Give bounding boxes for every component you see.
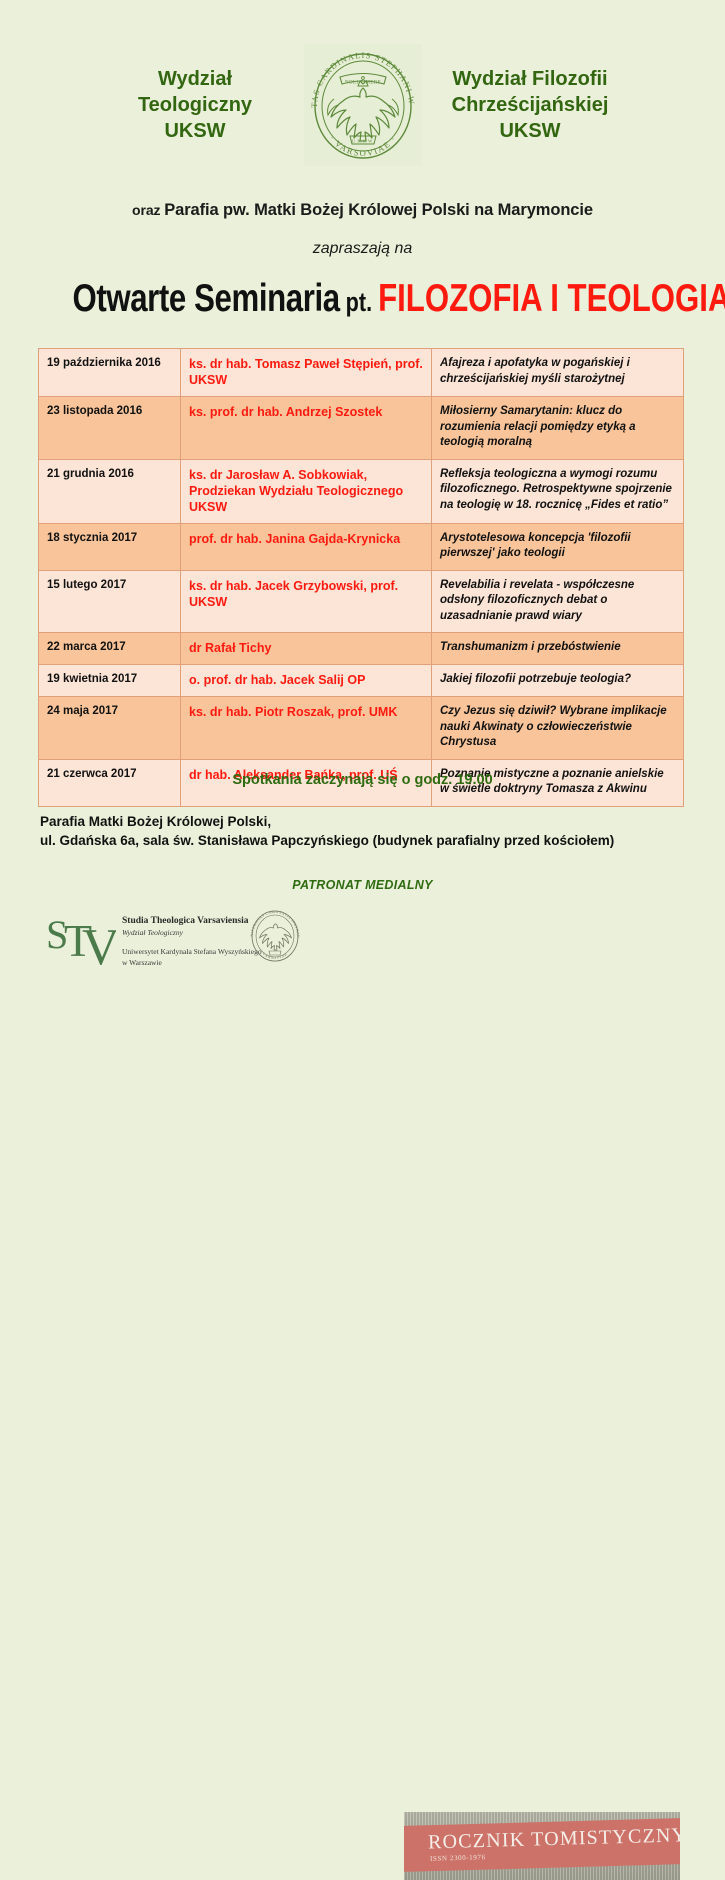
title-part-pt: pt. — [340, 287, 378, 317]
stv-logo-text: Studia Theologica Varsaviensia Wydział T… — [122, 915, 262, 968]
row-speaker: dr Rafał Tichy — [181, 633, 432, 665]
uksw-seal-icon: UNIVERSITAS CARDINALIS STEPHANI WYSZYŃSK… — [304, 44, 422, 166]
row-date: 24 maja 2017 — [39, 697, 181, 760]
row-date: 19 października 2016 — [39, 349, 181, 397]
stv-university-line-2: w Warszawie — [122, 958, 262, 969]
table-row: 24 maja 2017 ks. dr hab. Piotr Roszak, p… — [39, 697, 684, 760]
schedule-table-body: 19 października 2016 ks. dr hab. Tomasz … — [39, 349, 684, 807]
table-row: 15 lutego 2017 ks. dr hab. Jacek Grzybow… — [39, 570, 684, 633]
row-date: 23 listopada 2016 — [39, 397, 181, 460]
row-topic: Transhumanizm i przebóstwienie — [432, 633, 684, 665]
table-row: 19 kwietnia 2017 o. prof. dr hab. Jacek … — [39, 665, 684, 697]
row-speaker: ks. dr Jarosław A. Sobkowiak, Prodziekan… — [181, 459, 432, 523]
rocznik-tomistyczny-logo: ROCZNIK TOMISTYCZNY ISSN 2300-1976 — [404, 1812, 680, 1880]
title-part-black: Otwarte Seminaria — [73, 277, 340, 320]
stv-logo: S T V Studia Theologica Varsaviensia Wyd… — [44, 908, 262, 970]
row-speaker: ks. dr hab. Piotr Roszak, prof. UMK — [181, 697, 432, 760]
row-date: 19 kwietnia 2017 — [39, 665, 181, 697]
address-line-1: Parafia Matki Bożej Królowej Polski, — [40, 812, 700, 831]
row-topic: Afajreza i apofatyka w pogańskiej i chrz… — [432, 349, 684, 397]
table-row: 23 listopada 2016 ks. prof. dr hab. Andr… — [39, 397, 684, 460]
venue-address: Parafia Matki Bożej Królowej Polski, ul.… — [40, 812, 700, 850]
row-topic: Revelabilia i revelata - współczesne ods… — [432, 570, 684, 633]
start-time-note: Spotkania zaczynają się o godz. 19.00 — [0, 772, 725, 788]
sponsor-logos: S T V Studia Theologica Varsaviensia Wyd… — [0, 900, 725, 992]
page-title: Otwarte Seminaria pt. FILOZOFIA I TEOLOG… — [73, 277, 653, 324]
row-topic: Arystotelesowa koncepcja 'filozofii pier… — [432, 523, 684, 570]
row-topic: Czy Jezus się dziwił? Wybrane implikacje… — [432, 697, 684, 760]
faculty-right-line-2: Chrześcijańskiej — [423, 92, 638, 118]
faculty-left-line-1: Wydział — [88, 66, 303, 92]
faculty-left-line-3: UKSW — [88, 118, 303, 144]
svg-text:NOLI TIMERE: NOLI TIMERE — [344, 80, 380, 85]
organizer-parish: Parafia pw. Matki Bożej Królowej Polski … — [164, 201, 593, 219]
row-speaker: prof. dr hab. Janina Gajda-Krynicka — [181, 523, 432, 570]
title-part-red: FILOZOFIA I TEOLOGIA — [378, 277, 725, 320]
uksw-small-seal-icon: UNIVERSITAS CARDINALIS STEPHANI VARSOVIA… — [247, 906, 303, 966]
organizer-line: oraz Parafia pw. Matki Bożej Królowej Po… — [0, 201, 725, 220]
svg-text:U.K.S.W.: U.K.S.W. — [351, 138, 374, 143]
rocznik-issn: ISSN 2300-1976 — [430, 1853, 486, 1863]
stv-monogram-icon: S T V — [44, 908, 116, 970]
table-row: 18 stycznia 2017 prof. dr hab. Janina Ga… — [39, 523, 684, 570]
faculty-left: Wydział Teologiczny UKSW — [88, 66, 303, 144]
uksw-seal-wrap: UNIVERSITAS CARDINALIS STEPHANI WYSZYŃSK… — [303, 42, 423, 167]
svg-text:V: V — [82, 919, 116, 970]
stv-title: Studia Theologica Varsaviensia — [122, 915, 262, 927]
schedule-table: 19 października 2016 ks. dr hab. Tomasz … — [38, 348, 684, 807]
row-topic: Miłosierny Samarytanin: klucz do rozumie… — [432, 397, 684, 460]
row-topic: Refleksja teologiczna a wymogi rozumu fi… — [432, 459, 684, 523]
poster-header: Wydział Teologiczny UKSW UNIVERSITAS CAR… — [0, 0, 725, 167]
media-patronage-heading: PATRONAT MEDIALNY — [0, 878, 725, 892]
address-line-2: ul. Gdańska 6a, sala św. Stanisława Papc… — [40, 831, 700, 850]
table-row: 22 marca 2017 dr Rafał Tichy Transhumani… — [39, 633, 684, 665]
faculty-right-line-1: Wydział Filozofii — [423, 66, 638, 92]
schedule-table-wrap: 19 października 2016 ks. dr hab. Tomasz … — [38, 348, 684, 807]
organizer-prefix: oraz — [132, 202, 164, 218]
faculty-right: Wydział Filozofii Chrześcijańskiej UKSW — [423, 66, 638, 144]
row-topic: Jakiej filozofii potrzebuje teologia? — [432, 665, 684, 697]
table-row: 19 października 2016 ks. dr hab. Tomasz … — [39, 349, 684, 397]
row-date: 22 marca 2017 — [39, 633, 181, 665]
table-row: 21 grudnia 2016 ks. dr Jarosław A. Sobko… — [39, 459, 684, 523]
row-speaker: o. prof. dr hab. Jacek Salij OP — [181, 665, 432, 697]
row-speaker: ks. prof. dr hab. Andrzej Szostek — [181, 397, 432, 460]
row-date: 21 grudnia 2016 — [39, 459, 181, 523]
row-speaker: ks. dr hab. Tomasz Paweł Stępień, prof. … — [181, 349, 432, 397]
svg-text:UNIVERSITAS CARDINALIS STEPHAN: UNIVERSITAS CARDINALIS STEPHANI — [247, 906, 300, 938]
poster-root: Wydział Teologiczny UKSW UNIVERSITAS CAR… — [0, 0, 725, 1024]
invite-line: zapraszają na — [0, 240, 725, 258]
stv-university-line-1: Uniwersytet Kardynała Stefana Wyszyńskie… — [122, 947, 262, 958]
faculty-right-line-3: UKSW — [423, 118, 638, 144]
faculty-left-line-2: Teologiczny — [88, 92, 303, 118]
row-date: 15 lutego 2017 — [39, 570, 181, 633]
row-date: 18 stycznia 2017 — [39, 523, 181, 570]
row-speaker: ks. dr hab. Jacek Grzybowski, prof. UKSW — [181, 570, 432, 633]
stv-subtitle: Wydział Teologiczny — [122, 927, 262, 938]
